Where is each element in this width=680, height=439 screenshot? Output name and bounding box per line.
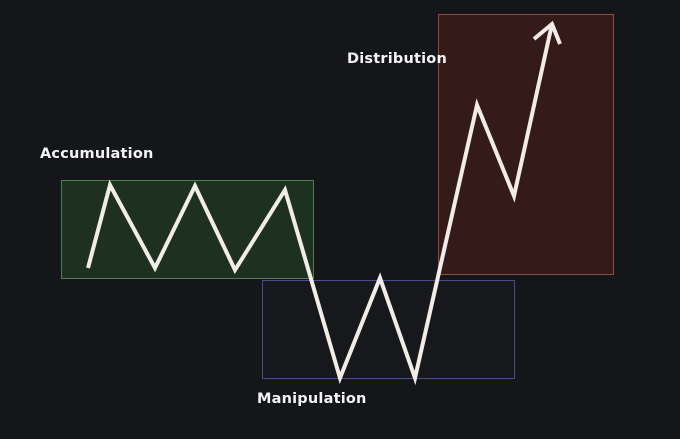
zone-manipulation [262, 280, 515, 379]
label-manipulation: Manipulation [257, 391, 367, 407]
zone-accumulation [61, 180, 314, 279]
diagram-canvas: Accumulation Distribution Manipulation [0, 0, 680, 439]
zone-distribution [438, 14, 614, 275]
label-accumulation: Accumulation [40, 146, 154, 162]
label-distribution: Distribution [347, 51, 447, 67]
